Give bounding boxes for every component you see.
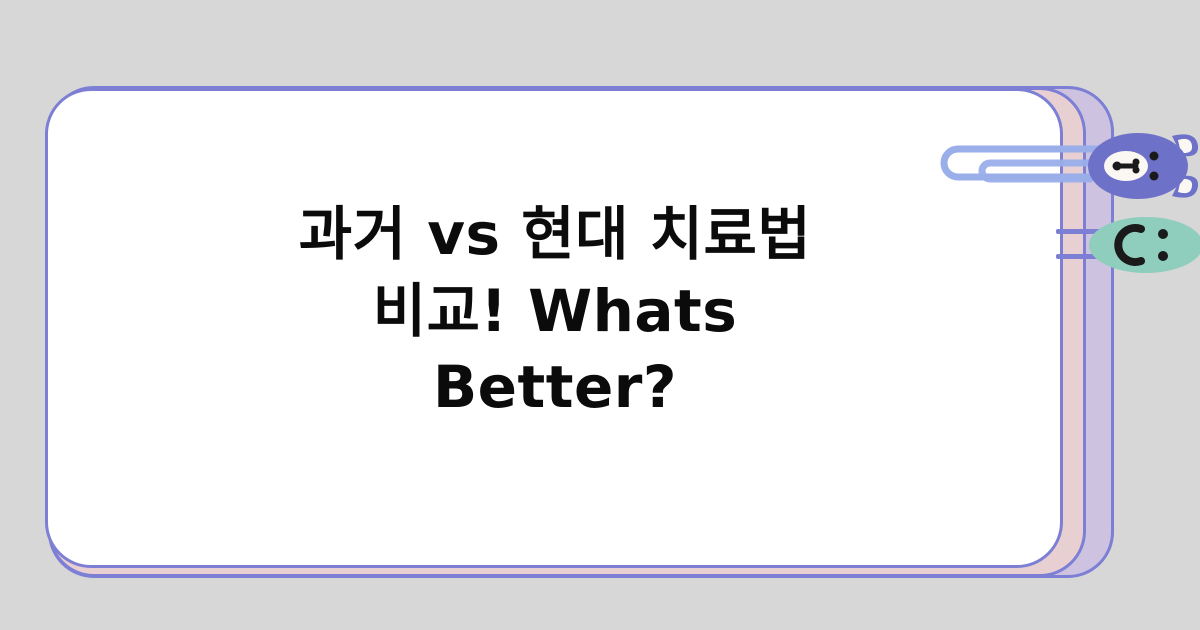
headline-block: 과거 vs 현대 치료법 비교! Whats Better? [60, 196, 1050, 426]
bear-face-sticker [1086, 130, 1200, 202]
thumbnail-canvas: 과거 vs 현대 치료법 비교! Whats Better? [0, 0, 1200, 630]
smiley-face-sticker [1088, 216, 1200, 274]
page-title: 과거 vs 현대 치료법 비교! Whats Better? [60, 196, 1050, 426]
